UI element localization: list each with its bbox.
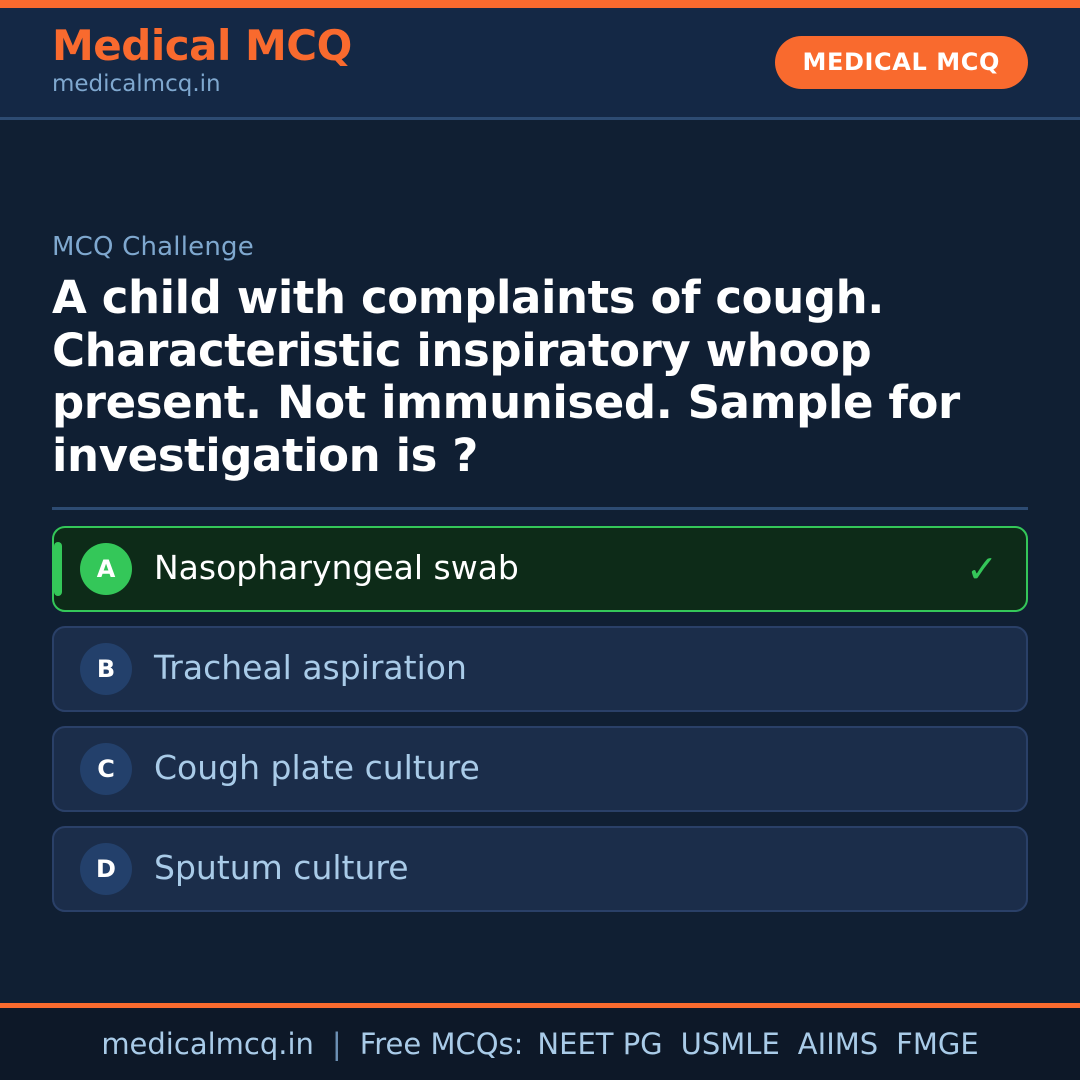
question-text: A child with complaints of cough. Charac… [52, 272, 1012, 483]
option-b-badge: B [80, 643, 132, 695]
option-d-badge: D [80, 843, 132, 895]
footer-separator: | [328, 1027, 346, 1061]
option-c-badge: C [80, 743, 132, 795]
footer-bar: medicalmcq.in | Free MCQs: NEET PG USMLE… [0, 1003, 1080, 1080]
eyebrow-label: MCQ Challenge [52, 232, 1028, 262]
brand-subtitle: medicalmcq.in [52, 70, 352, 100]
option-c-label: Cough plate culture [154, 750, 480, 786]
option-b[interactable]: B Tracheal aspiration [52, 626, 1028, 712]
footer-exam-aiims[interactable]: AIIMS [798, 1027, 878, 1061]
options-list: A Nasopharyngeal swab ✓ B Tracheal aspir… [52, 526, 1028, 912]
brand-title: Medical MCQ [52, 25, 352, 68]
header-badge[interactable]: MEDICAL MCQ [775, 36, 1028, 89]
option-c[interactable]: C Cough plate culture [52, 726, 1028, 812]
option-a-badge: A [80, 543, 132, 595]
footer-site[interactable]: medicalmcq.in [101, 1027, 314, 1061]
footer-exam-neet-pg[interactable]: NEET PG [537, 1027, 662, 1061]
footer-exam-fmge[interactable]: FMGE [896, 1027, 979, 1061]
header-bar: Medical MCQ medicalmcq.in MEDICAL MCQ [0, 8, 1080, 120]
option-a-label: Nasopharyngeal swab [154, 550, 519, 586]
check-icon: ✓ [966, 550, 998, 588]
footer-exam-list: NEET PG USMLE AIIMS FMGE [537, 1027, 978, 1061]
correct-accent-bar [54, 542, 62, 596]
option-d-label: Sputum culture [154, 850, 409, 886]
option-b-label: Tracheal aspiration [154, 650, 467, 686]
option-a[interactable]: A Nasopharyngeal swab ✓ [52, 526, 1028, 612]
top-accent-bar [0, 0, 1080, 8]
main-content: MCQ Challenge A child with complaints of… [0, 120, 1080, 1003]
brand-block: Medical MCQ medicalmcq.in [52, 25, 352, 101]
footer-label: Free MCQs: [360, 1027, 524, 1061]
footer-exam-usmle[interactable]: USMLE [681, 1027, 780, 1061]
question-divider [52, 507, 1028, 510]
mcq-card: Medical MCQ medicalmcq.in MEDICAL MCQ MC… [0, 0, 1080, 1080]
footer-row: medicalmcq.in | Free MCQs: NEET PG USMLE… [101, 1027, 978, 1061]
option-d[interactable]: D Sputum culture [52, 826, 1028, 912]
